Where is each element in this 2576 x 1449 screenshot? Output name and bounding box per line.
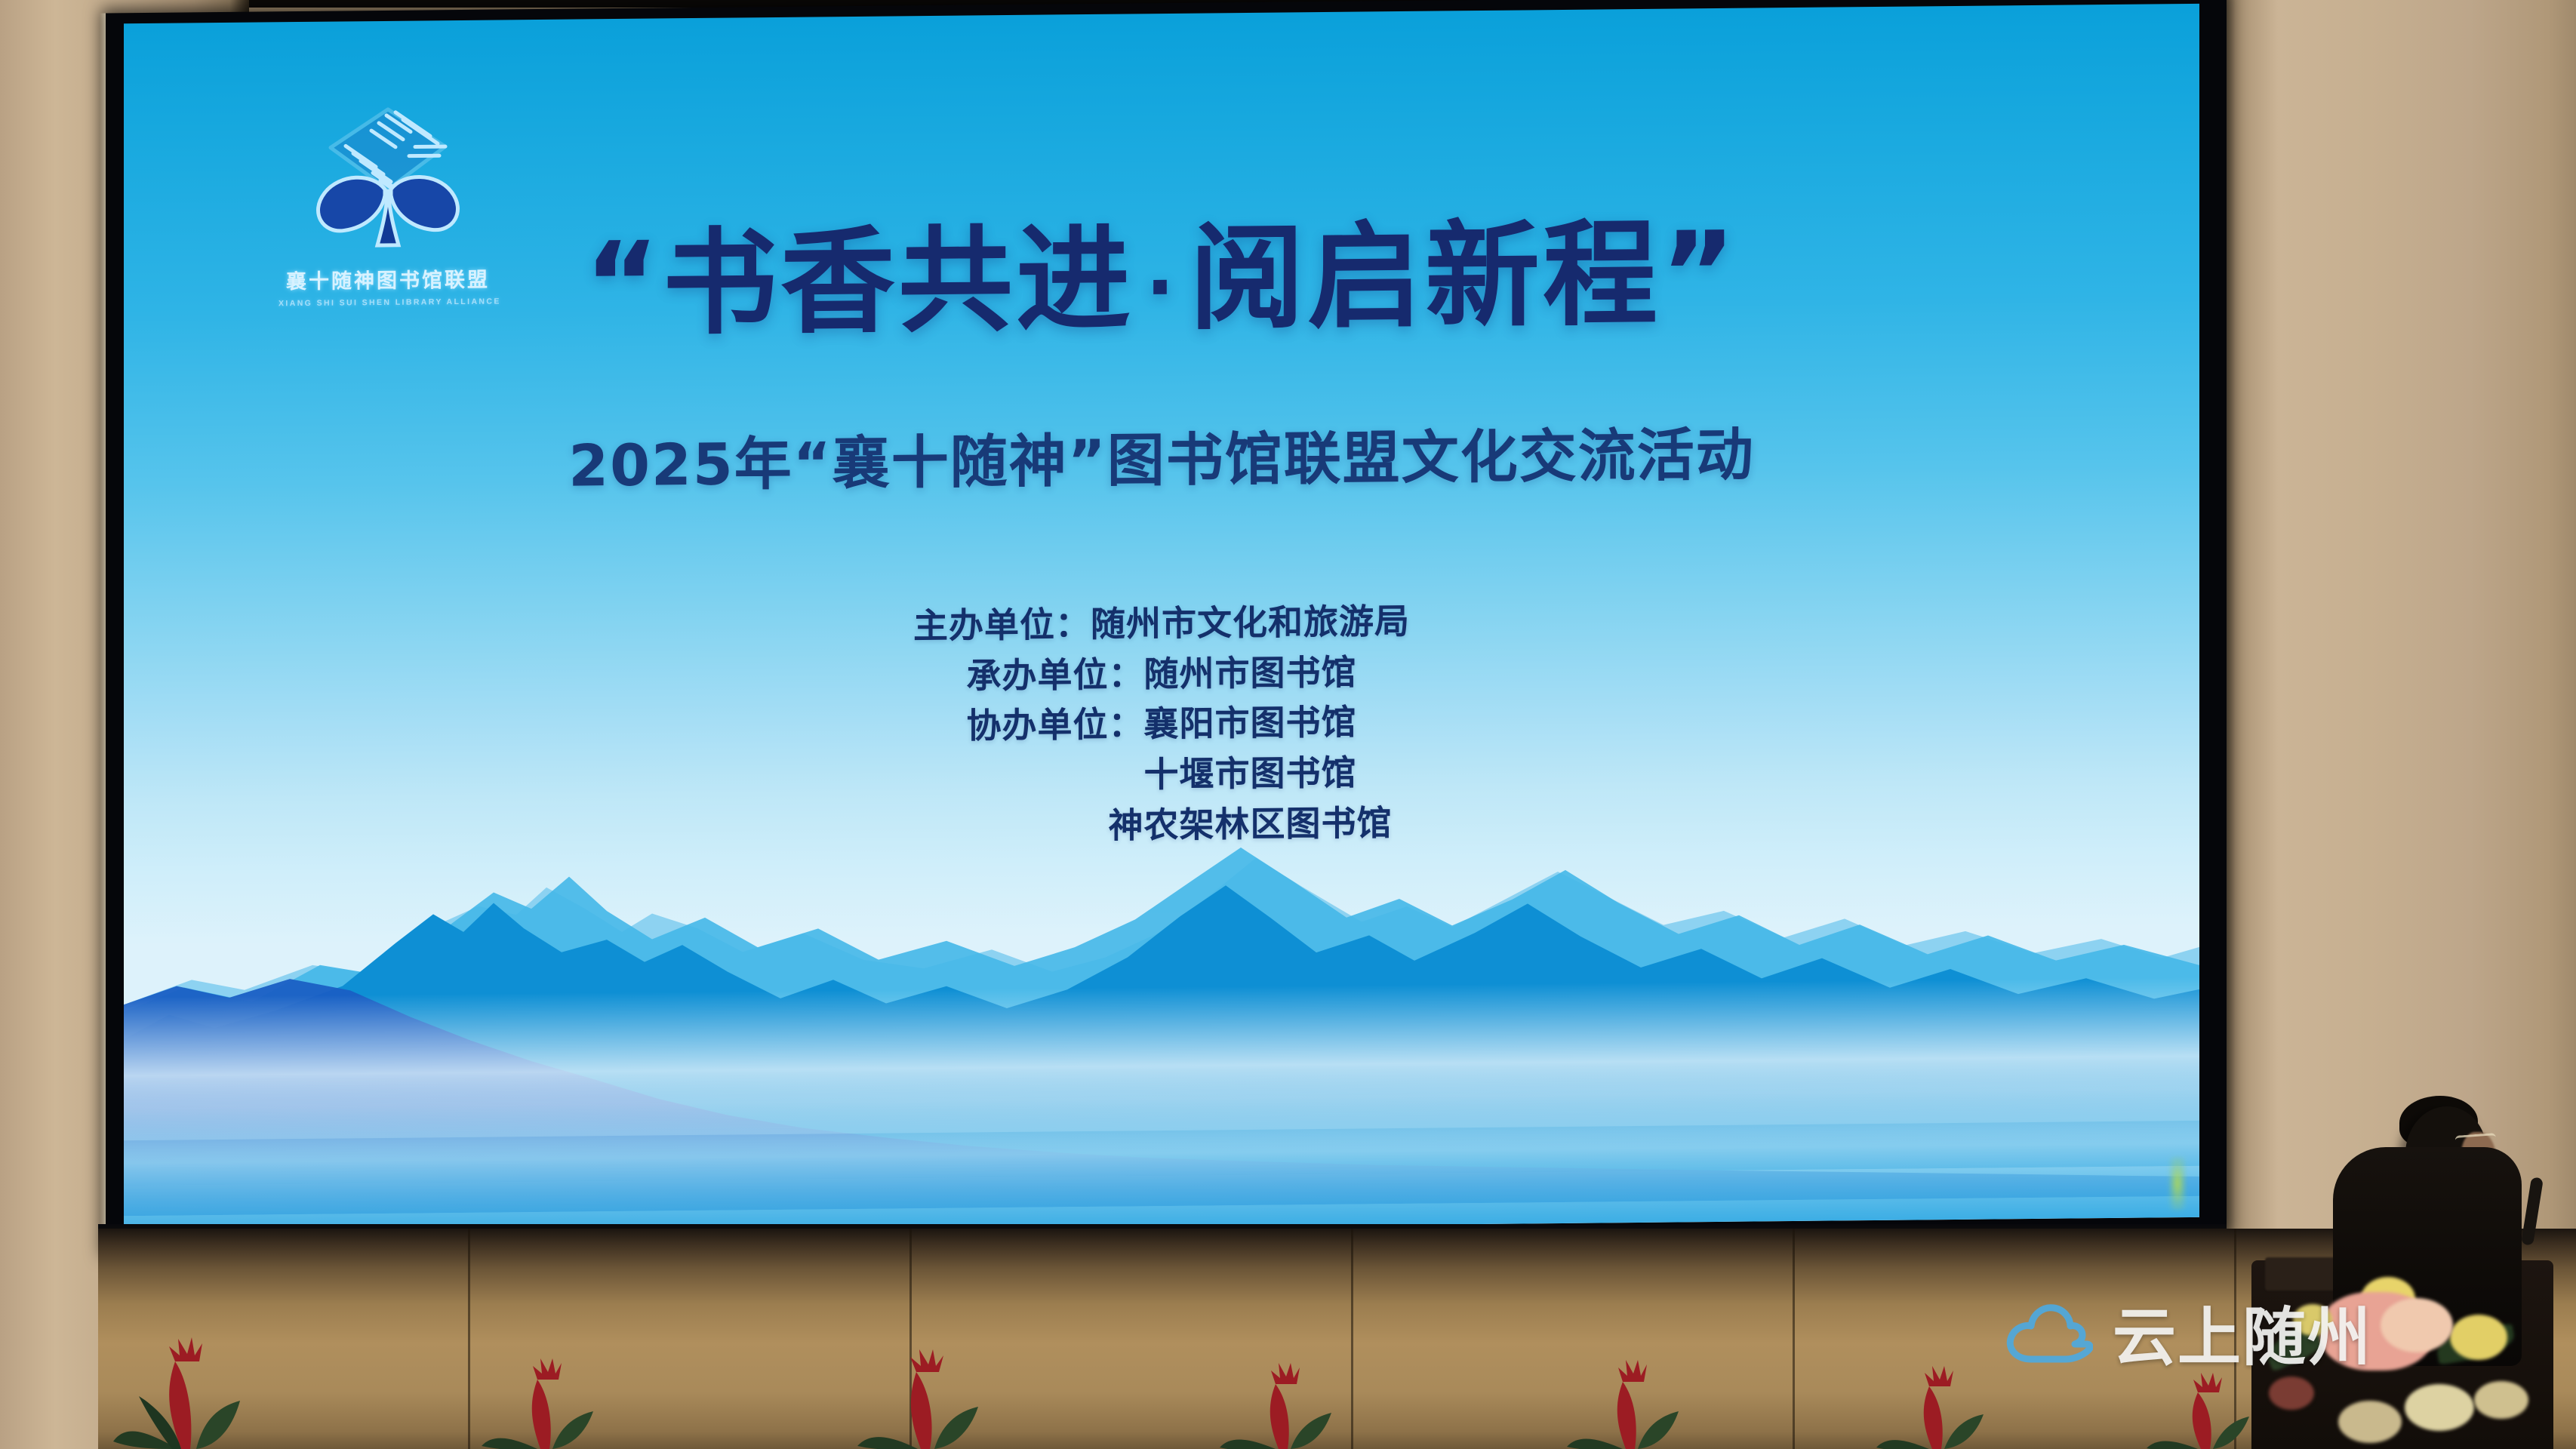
- screen-bottom-glow: [124, 1089, 2199, 1237]
- title-part-two: 阅启新程: [1190, 208, 1660, 346]
- organizer-label: 协办单位：: [967, 700, 1144, 752]
- organizer-value: 随州市图书馆: [1144, 647, 1357, 699]
- title-close-quote: ”: [1660, 207, 1739, 341]
- screen-pixel-artifact: [2169, 1157, 2186, 1210]
- organizer-value: 十堰市图书馆: [1144, 748, 1357, 800]
- organizer-label: 主办单位：: [913, 599, 1091, 651]
- led-screen: 襄十随神图书馆联盟 XIANG SHI SUI SHEN LIBRARY ALL…: [124, 4, 2199, 1237]
- bromeliad-plant: [468, 1351, 626, 1449]
- title-part-one: 书香共进: [663, 212, 1134, 350]
- venue-photo: 襄十随神图书馆联盟 XIANG SHI SUI SHEN LIBRARY ALL…: [0, 0, 2576, 1449]
- bromeliad-plant: [106, 1328, 287, 1449]
- organizer-list: 主办单位：随州市文化和旅游局 承办单位：随州市图书馆 协办单位：襄阳市图书馆 协…: [124, 589, 2199, 860]
- page-title: “书香共进·阅启新程”: [124, 209, 2199, 349]
- organizer-value: 神农架林区图书馆: [1109, 798, 1393, 851]
- led-screen-bezel: 襄十随神图书馆联盟 XIANG SHI SUI SHEN LIBRARY ALL…: [106, 0, 2227, 1251]
- organizer-value: 襄阳市图书馆: [1144, 697, 1357, 749]
- bromeliad-plant: [1864, 1362, 2015, 1449]
- bromeliad-plant: [1555, 1355, 1713, 1449]
- bromeliad-plant: [1208, 1358, 1366, 1449]
- organizer-label: 承办单位：: [967, 649, 1144, 701]
- bromeliad-plant: [845, 1343, 1019, 1449]
- watermark-text: 云上随州: [2113, 1287, 2372, 1378]
- cloud-icon: [2004, 1299, 2093, 1367]
- page-subtitle: 2025年“襄十随神”图书馆联盟文化交流活动: [124, 404, 2199, 506]
- title-open-quote: “: [584, 217, 663, 351]
- organizer-value: 随州市文化和旅游局: [1091, 596, 1410, 650]
- watermark: 云上随州: [2004, 1287, 2372, 1378]
- title-separator: ·: [1134, 243, 1190, 332]
